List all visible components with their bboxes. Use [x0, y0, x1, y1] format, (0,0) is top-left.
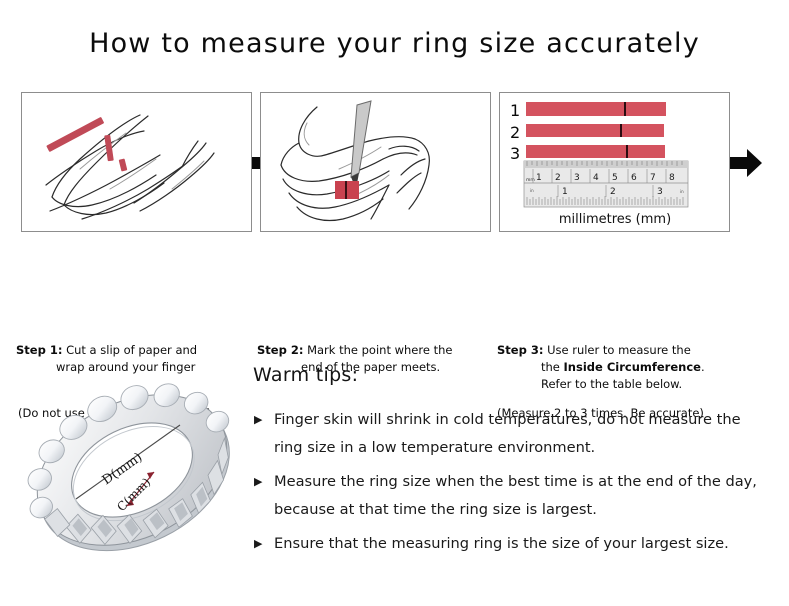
tip-item: ▶ Finger skin will shrink in cold temper… [253, 406, 773, 462]
hand-marking-paper-illustration [261, 93, 490, 231]
tip-text: Ensure that the measuring ring is the si… [274, 535, 729, 552]
ruler: mm 1 2 3 4 5 6 7 8 [524, 161, 688, 207]
eternity-ring-illustration: D(mm) C(mm) [14, 352, 250, 584]
svg-text:1: 1 [562, 187, 568, 197]
hand-with-paper-strip-illustration [22, 93, 251, 231]
step-1-panel [21, 92, 252, 232]
step-1-column [21, 92, 254, 232]
tip-text: Measure the ring size when the best time… [274, 473, 757, 518]
steps-row: 1 2 3 [0, 92, 789, 342]
page-title: How to measure your ring size accurately [0, 28, 789, 59]
svg-text:2: 2 [555, 173, 561, 183]
step-3-lead: Step 3: [497, 343, 543, 357]
bullet-triangle-icon: ▶ [254, 530, 262, 558]
bullet-triangle-icon: ▶ [254, 468, 262, 496]
svg-text:3: 3 [574, 173, 580, 183]
strip-label-2: 2 [510, 123, 520, 142]
paper-strips-with-ruler-illustration: 1 2 3 [500, 93, 729, 231]
step-2-line1: Mark the point where the [303, 343, 452, 357]
step-2-column [260, 92, 493, 232]
step-2-panel [260, 92, 491, 232]
strip-label-1: 1 [510, 101, 520, 120]
warm-tips-heading: Warm tips: [253, 364, 773, 386]
tip-item: ▶ Ensure that the measuring ring is the … [253, 530, 773, 558]
ruler-unit-caption: millimetres (mm) [559, 212, 671, 227]
step-3-panel: 1 2 3 [499, 92, 730, 232]
ruler-cm-unit-label: mm [526, 178, 535, 183]
svg-text:in: in [530, 188, 534, 193]
step-3-column: 1 2 3 [499, 92, 732, 232]
svg-text:4: 4 [593, 173, 599, 183]
svg-text:6: 6 [631, 173, 637, 183]
svg-text:3: 3 [657, 187, 663, 197]
svg-text:2: 2 [610, 187, 616, 197]
tip-text: Finger skin will shrink in cold temperat… [274, 411, 741, 456]
svg-text:8: 8 [669, 173, 675, 183]
bullet-triangle-icon: ▶ [254, 406, 262, 434]
strip-label-3: 3 [510, 144, 520, 163]
svg-text:7: 7 [650, 173, 656, 183]
warm-tips-section: Warm tips: ▶ Finger skin will shrink in … [253, 364, 773, 564]
ring-product-figure: D(mm) C(mm) [14, 352, 250, 584]
step-2-lead: Step 2: [257, 343, 303, 357]
tip-item: ▶ Measure the ring size when the best ti… [253, 468, 773, 524]
svg-text:5: 5 [612, 173, 618, 183]
arrow-step2-to-step3 [727, 140, 765, 186]
right-arrow-icon [727, 140, 765, 186]
svg-text:in: in [680, 189, 684, 194]
svg-text:1: 1 [536, 173, 542, 183]
step-3-line1: Use ruler to measure the [543, 343, 690, 357]
